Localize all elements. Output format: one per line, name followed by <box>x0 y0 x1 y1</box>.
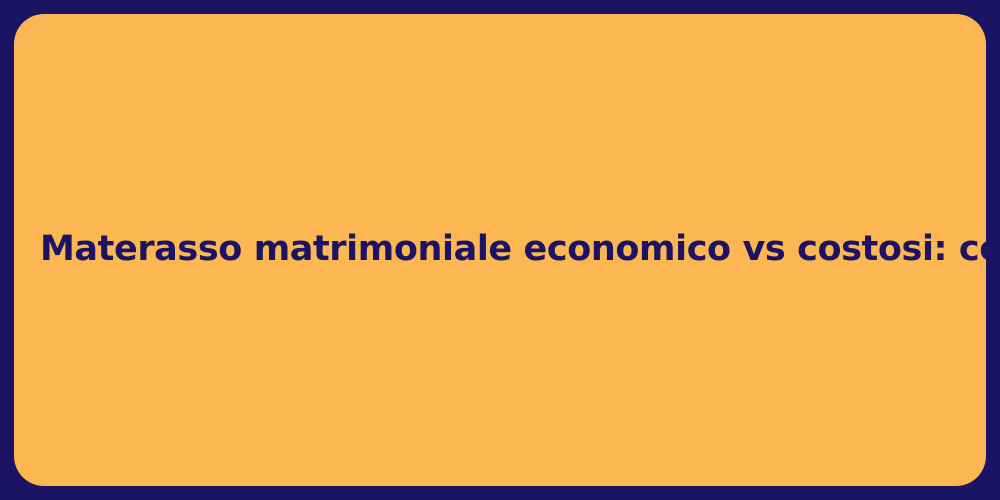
page-title: Materasso matrimoniale economico vs cost… <box>40 229 986 270</box>
article-title-banner: Materasso matrimoniale economico vs cost… <box>0 0 1000 500</box>
banner-panel: Materasso matrimoniale economico vs cost… <box>14 14 986 486</box>
